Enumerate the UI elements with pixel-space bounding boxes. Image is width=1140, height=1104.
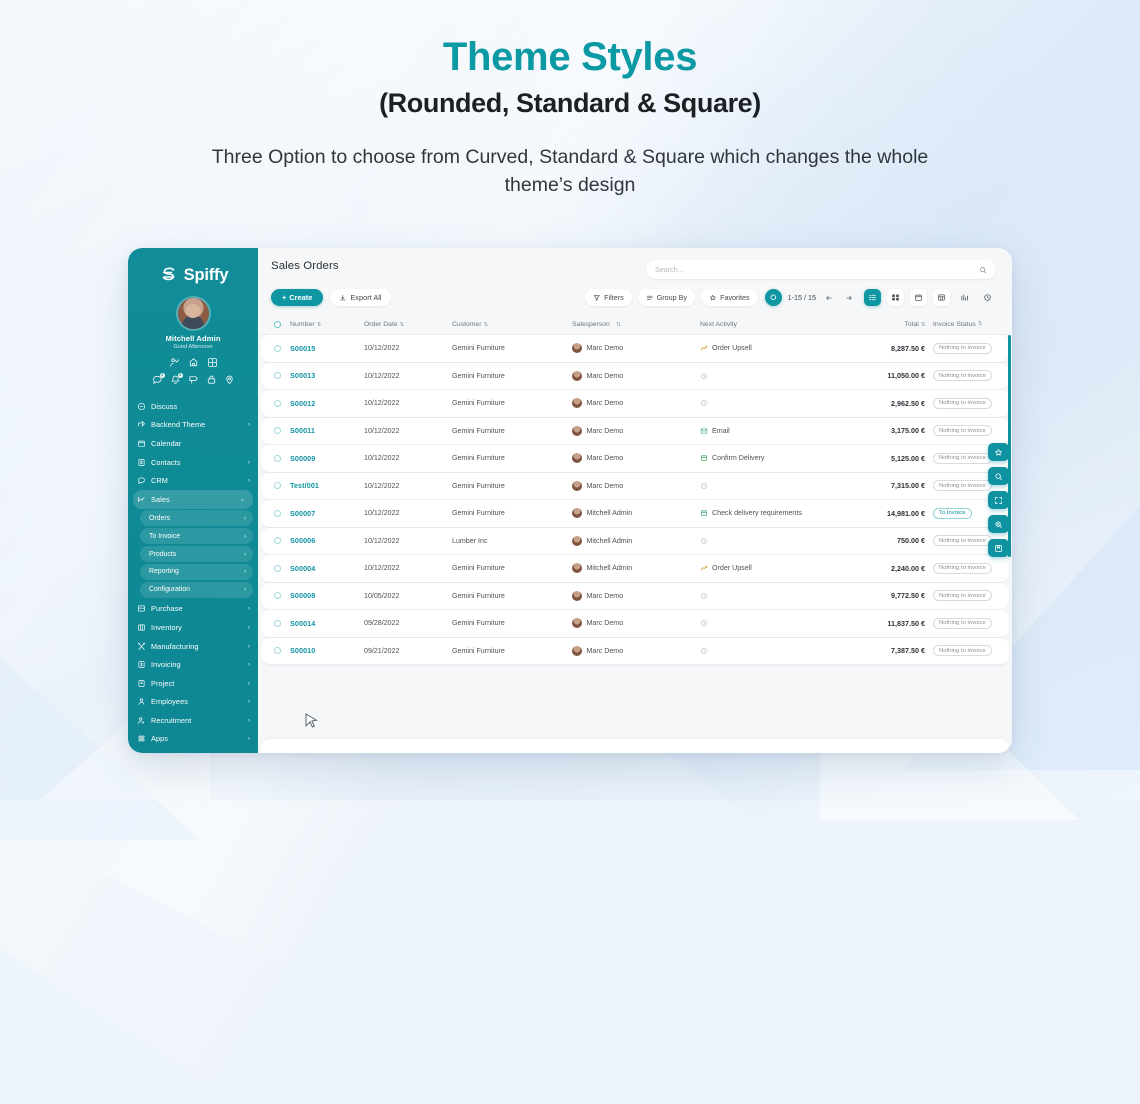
sort-icon: ⇅	[978, 321, 982, 328]
column-header-total[interactable]: Total⇅	[847, 321, 925, 328]
row-checkbox[interactable]	[274, 400, 290, 407]
row-next-activity: Order Upsell	[700, 564, 847, 572]
row-invoice-status: Nothing to invoice	[925, 370, 995, 381]
row-salesperson-name: Marc Demo	[587, 372, 624, 380]
column-label: Customer	[452, 321, 481, 328]
row-number[interactable]: S00010	[290, 646, 364, 655]
group-by-button[interactable]: Group By	[638, 289, 695, 306]
chevron-right-icon: ›	[248, 421, 250, 428]
quick-icons-row-2: 3 4	[128, 374, 258, 385]
row-total: 2,240.00 €	[847, 564, 925, 573]
export-all-label: Export All	[350, 293, 381, 302]
row-salesperson: Marc Demo	[572, 426, 700, 436]
row-salesperson-name: Marc Demo	[587, 454, 624, 462]
contacts-icon	[137, 458, 146, 467]
discuss-icon	[137, 402, 146, 411]
project-icon	[137, 679, 146, 688]
row-number[interactable]: S00007	[290, 509, 364, 518]
row-invoice-status: Nothing to invoice	[925, 563, 995, 574]
row-invoice-status: Nothing to invoice	[925, 453, 995, 464]
quick-icons-row-1	[128, 357, 258, 368]
calendar-check-icon	[700, 454, 708, 462]
status-badge: Nothing to invoice	[933, 480, 992, 491]
sidebar-item-label: Calendar	[151, 439, 250, 448]
pager: 1-15 / 15	[765, 289, 856, 306]
row-salesperson-name: Marc Demo	[587, 399, 624, 407]
avatar	[572, 371, 582, 381]
search-icon[interactable]	[979, 266, 987, 274]
sort-icon: ⇅	[483, 322, 487, 328]
previous-page-button[interactable]	[822, 291, 836, 305]
row-salesperson-name: Marc Demo	[587, 647, 624, 655]
sidebar-item-contacts[interactable]: Contacts ›	[128, 453, 258, 472]
row-invoice-status: Nothing to invoice	[925, 645, 995, 656]
spiffy-s-logo-icon	[158, 264, 180, 286]
row-invoice-status: Nothing to invoice	[925, 480, 995, 491]
notifications-badge: 4	[178, 373, 183, 378]
row-next-activity: Confirm Delivery	[700, 454, 847, 462]
email-icon	[700, 427, 708, 435]
sidebar-item-project[interactable]: Project ›	[128, 674, 258, 693]
row-next-activity	[700, 482, 847, 490]
avatar	[572, 453, 582, 463]
row-customer: Gemini Furniture	[452, 482, 572, 490]
apps-grid-icon[interactable]	[207, 357, 218, 368]
row-order-date: 10/12/2022	[364, 427, 452, 435]
sidebar-item-calendar[interactable]: Calendar	[128, 434, 258, 453]
calendar-view-button[interactable]	[910, 289, 927, 306]
sidebar-item-purchase[interactable]: Purchase ›	[128, 600, 258, 619]
avatar	[572, 398, 582, 408]
row-number[interactable]: S00014	[290, 619, 364, 628]
search-placeholder: Search...	[655, 265, 684, 274]
table-row[interactable]: Test/00110/12/2022Gemini FurnitureMarc D…	[261, 473, 1009, 500]
status-badge: To Invoice	[933, 508, 972, 519]
column-header-invoice-status[interactable]: Invoice Status⇅	[925, 321, 995, 328]
row-salesperson: Marc Demo	[572, 343, 700, 353]
save-layout-icon[interactable]	[988, 539, 1009, 557]
row-checkbox[interactable]	[274, 510, 290, 517]
status-badge: Nothing to invoice	[933, 535, 992, 546]
sidebar-item-label: Backend Theme	[151, 420, 243, 429]
status-badge: Nothing to invoice	[933, 398, 992, 409]
avatar	[572, 508, 582, 518]
plus-icon: +	[282, 293, 286, 302]
clock-icon	[700, 372, 708, 380]
chevron-right-icon: ›	[248, 624, 250, 631]
row-next-activity	[700, 647, 847, 655]
view-title: Sales Orders	[271, 260, 339, 272]
search-icon[interactable]	[988, 467, 1009, 485]
sidebar-item-invoicing[interactable]: Invoicing ›	[128, 655, 258, 674]
row-customer: Gemini Furniture	[452, 592, 572, 600]
row-next-activity-label: Order Upsell	[712, 564, 752, 572]
row-customer: Gemini Furniture	[452, 619, 572, 627]
chevron-right-icon: ›	[248, 605, 250, 612]
row-salesperson-name: Marc Demo	[587, 619, 624, 627]
row-checkbox[interactable]	[274, 345, 290, 352]
messages-icon[interactable]: 3	[152, 374, 163, 385]
sidebar-item-label: Employees	[151, 697, 243, 706]
messages-badge: 3	[160, 373, 165, 378]
row-invoice-status: Nothing to invoice	[925, 618, 995, 629]
sidebar-item-label: Purchase	[151, 604, 243, 613]
table-row[interactable]: S0000810/05/2022Gemini FurnitureMarc Dem…	[261, 583, 1009, 610]
column-header-salesperson[interactable]: Salesperson⇅	[572, 321, 700, 328]
row-total: 7,387.50 €	[847, 646, 925, 655]
sidebar-subitem-label: Products	[149, 551, 244, 558]
row-customer: Gemini Furniture	[452, 427, 572, 435]
row-invoice-status: Nothing to invoice	[925, 343, 995, 354]
chevron-right-icon: ›	[248, 680, 250, 687]
column-header-number[interactable]: Number⇅	[290, 321, 364, 328]
crm-icon	[137, 476, 146, 485]
chevron-right-icon: ›	[248, 698, 250, 705]
select-all-checkbox[interactable]	[274, 321, 290, 328]
clock-icon	[700, 647, 708, 655]
sidebar-item-apps[interactable]: Apps ›	[128, 730, 258, 749]
row-total: 7,315.00 €	[847, 481, 925, 490]
sidebar-item-sales[interactable]: Sales ⌄	[133, 490, 253, 509]
row-order-date: 09/21/2022	[364, 647, 452, 655]
filters-label: Filters	[604, 293, 624, 302]
activity-user-icon[interactable]	[169, 357, 180, 368]
activity-view-button[interactable]	[979, 289, 996, 306]
avatar	[572, 646, 582, 656]
avatar	[572, 343, 582, 353]
group-by-label: Group By	[657, 293, 687, 302]
toolbar: Filters Group By Favorites	[585, 289, 996, 306]
row-salesperson-name: Marc Demo	[587, 482, 624, 490]
row-order-date: 10/12/2022	[364, 564, 452, 572]
status-badge: Nothing to invoice	[933, 370, 992, 381]
sidebar-item-manufacturing[interactable]: Manufacturing ›	[128, 637, 258, 656]
row-invoice-status: Nothing to invoice	[925, 590, 995, 601]
order-upsell-icon	[700, 564, 708, 572]
sidebar-item-label: CRM	[151, 476, 243, 485]
avatar	[572, 563, 582, 573]
row-order-date: 10/12/2022	[364, 509, 452, 517]
sidebar-item-employees[interactable]: Employees ›	[128, 692, 258, 711]
brand[interactable]: Spiffy	[128, 260, 258, 290]
sidebar-item-label: Sales	[151, 495, 235, 504]
apps-icon	[137, 734, 146, 743]
row-order-date: 10/12/2022	[364, 537, 452, 545]
row-next-activity-label: Check delivery requirements	[712, 509, 802, 517]
avatar	[572, 591, 582, 601]
table-header: Number⇅ Order Date⇅ Customer⇅ Salesperso…	[261, 312, 1009, 335]
sidebar-item-backend-theme[interactable]: Backend Theme ›	[128, 416, 258, 435]
row-customer: Gemini Furniture	[452, 454, 572, 462]
chevron-right-icon: ›	[248, 477, 250, 484]
invoicing-icon	[137, 660, 146, 669]
filters-button[interactable]: Filters	[585, 289, 632, 306]
column-label: Invoice Status	[933, 321, 976, 328]
row-total: 2,962.50 €	[847, 399, 925, 408]
sidebar-subitem-products[interactable]: Products ›	[140, 546, 253, 562]
sidebar-item-label: Apps	[151, 734, 243, 743]
sort-icon: ⇅	[616, 322, 620, 328]
row-next-activity-label: Order Upsell	[712, 344, 752, 352]
table-body[interactable]: S0001510/12/2022Gemini FurnitureMarc Dem…	[258, 335, 1012, 739]
row-customer: Gemini Furniture	[452, 399, 572, 407]
page-subtitle: (Rounded, Standard & Square)	[0, 88, 1140, 119]
manufacturing-icon	[137, 642, 146, 651]
sidebar-item-recruitment[interactable]: Recruitment ›	[128, 711, 258, 730]
row-invoice-status: Nothing to invoice	[925, 535, 995, 546]
row-checkbox[interactable]	[274, 537, 290, 544]
sidebar-subitem-to-invoice[interactable]: To Invoice ›	[140, 528, 253, 544]
row-next-activity-label: Email	[712, 427, 730, 435]
page-title: Theme Styles	[0, 34, 1140, 81]
clock-icon	[700, 619, 708, 627]
row-total: 8,287.50 €	[847, 344, 925, 353]
chevron-right-icon: ›	[248, 643, 250, 650]
table-row[interactable]: S0000610/12/2022Lumber IncMitchell Admin…	[261, 528, 1009, 555]
table-row[interactable]: S0001009/21/2022Gemini FurnitureMarc Dem…	[261, 638, 1009, 665]
row-total: 11,050.00 €	[847, 371, 925, 380]
filter-icon	[593, 294, 601, 302]
list-view-button[interactable]	[864, 289, 881, 306]
theme-icon	[137, 420, 146, 429]
floating-action-buttons	[988, 443, 1009, 557]
table-row[interactable]: S0001310/12/2022Gemini FurnitureMarc Dem…	[261, 363, 1009, 390]
sidebar-subitem-label: Reporting	[149, 568, 244, 575]
row-salesperson-name: Marc Demo	[587, 427, 624, 435]
graph-view-button[interactable]	[956, 289, 973, 306]
sales-chart-icon	[137, 495, 146, 504]
row-order-date: 10/12/2022	[364, 344, 452, 352]
sort-icon: ⇅	[400, 322, 404, 328]
sidebar-item-label: Manufacturing	[151, 642, 243, 651]
status-badge: Nothing to invoice	[933, 590, 992, 601]
table-row[interactable]: S0001510/12/2022Gemini FurnitureMarc Dem…	[261, 335, 1009, 362]
chevron-right-icon: ›	[248, 661, 250, 668]
row-customer: Gemini Furniture	[452, 344, 572, 352]
chevron-right-icon: ›	[248, 459, 250, 466]
avatar	[572, 481, 582, 491]
sidebar-item-label: Inventory	[151, 623, 243, 632]
row-salesperson: Mitchell Admin	[572, 563, 700, 573]
table-row[interactable]: S0000710/12/2022Gemini FurnitureMitchell…	[261, 500, 1009, 527]
chevron-right-icon: ›	[244, 586, 246, 593]
row-checkbox[interactable]	[274, 647, 290, 654]
row-salesperson-name: Marc Demo	[587, 344, 624, 352]
clock-icon	[700, 537, 708, 545]
download-icon	[339, 294, 347, 302]
search-input[interactable]: Search...	[646, 260, 996, 279]
row-number[interactable]: S00008	[290, 591, 364, 600]
create-button[interactable]: + Create	[271, 289, 323, 306]
brand-name: Spiffy	[184, 266, 229, 285]
megaphone-icon[interactable]	[188, 374, 199, 385]
table-row[interactable]: S0001110/12/2022Gemini FurnitureMarc Dem…	[261, 418, 1009, 445]
row-salesperson: Marc Demo	[572, 371, 700, 381]
chevron-right-icon: ›	[244, 515, 246, 522]
pivot-view-button[interactable]	[933, 289, 950, 306]
row-number[interactable]: S00015	[290, 344, 364, 353]
export-all-button[interactable]: Export All	[330, 289, 390, 306]
row-total: 5,125.00 €	[847, 454, 925, 463]
favorites-label: Favorites	[720, 293, 750, 302]
row-next-activity: Check delivery requirements	[700, 509, 847, 517]
star-icon[interactable]	[988, 443, 1009, 461]
row-total: 3,175.00 €	[847, 426, 925, 435]
row-total: 11,837.50 €	[847, 619, 925, 628]
purchase-icon	[137, 604, 146, 613]
calendar-check-icon	[700, 509, 708, 517]
column-header-order-date[interactable]: Order Date⇅	[364, 321, 452, 328]
calendar-icon	[137, 439, 146, 448]
status-badge: Nothing to invoice	[933, 425, 992, 436]
next-page-button[interactable]	[842, 291, 856, 305]
row-checkbox[interactable]	[274, 372, 290, 379]
row-order-date: 10/05/2022	[364, 592, 452, 600]
control-panel-top: Sales Orders Search...	[271, 260, 996, 279]
column-label: Order Date	[364, 321, 398, 328]
row-next-activity-label: Confirm Delivery	[712, 454, 764, 462]
sidebar-item-settings[interactable]: Settings ›	[128, 748, 258, 753]
status-badge: Nothing to invoice	[933, 618, 992, 629]
column-header-customer[interactable]: Customer⇅	[452, 321, 572, 328]
row-checkbox[interactable]	[274, 455, 290, 462]
row-salesperson: Marc Demo	[572, 398, 700, 408]
sidebar-subitem-label: To Invoice	[149, 533, 244, 540]
sidebar-item-label: Project	[151, 679, 243, 688]
row-number[interactable]: S00011	[290, 426, 364, 435]
row-next-activity	[700, 399, 847, 407]
sidebar: Spiffy Mitchell Admin Good Afternoon	[128, 248, 258, 753]
row-total: 750.00 €	[847, 536, 925, 545]
main-content: Sales Orders Search... + Create	[258, 248, 1012, 753]
row-next-activity: Order Upsell	[700, 344, 847, 352]
chevron-right-icon: ›	[244, 551, 246, 558]
status-badge: Nothing to invoice	[933, 343, 992, 354]
table-row[interactable]: S0001210/12/2022Gemini FurnitureMarc Dem…	[261, 390, 1009, 417]
avatar[interactable]	[178, 298, 209, 329]
sidebar-item-label: Contacts	[151, 458, 243, 467]
create-button-label: Create	[289, 293, 312, 302]
row-salesperson: Mitchell Admin	[572, 508, 700, 518]
avatar	[572, 536, 582, 546]
control-panel-bottom: + Create Export All	[271, 289, 996, 306]
page-description: Three Option to choose from Curved, Stan…	[200, 143, 940, 200]
sidebar-item-discuss[interactable]: Discuss	[128, 397, 258, 416]
row-next-activity	[700, 592, 847, 600]
row-checkbox[interactable]	[274, 620, 290, 627]
rows-container: S0001510/12/2022Gemini FurnitureMarc Dem…	[261, 335, 1009, 664]
row-customer: Gemini Furniture	[452, 372, 572, 380]
sidebar-subitem-configuration[interactable]: Configuration ›	[140, 582, 253, 598]
row-salesperson: Marc Demo	[572, 591, 700, 601]
row-number[interactable]: S00006	[290, 536, 364, 545]
row-next-activity	[700, 537, 847, 545]
headline-block: Theme Styles (Rounded, Standard & Square…	[0, 34, 1140, 200]
row-number[interactable]: Test/001	[290, 481, 364, 490]
status-badge: Nothing to invoice	[933, 645, 992, 656]
chevron-right-icon: ›	[244, 568, 246, 575]
refresh-circle-button[interactable]	[765, 289, 782, 306]
row-next-activity: Email	[700, 427, 847, 435]
row-checkbox[interactable]	[274, 482, 290, 489]
row-number[interactable]: S00004	[290, 564, 364, 573]
zoom-in-icon[interactable]	[988, 515, 1009, 533]
status-badge: Nothing to invoice	[933, 563, 992, 574]
group-by-icon	[646, 294, 654, 302]
home-box-icon[interactable]	[188, 357, 199, 368]
row-number[interactable]: S00012	[290, 399, 364, 408]
row-number[interactable]: S00009	[290, 454, 364, 463]
fullscreen-icon[interactable]	[988, 491, 1009, 509]
row-total: 14,981.00 €	[847, 509, 925, 518]
pin-location-icon[interactable]	[224, 374, 235, 385]
profile-block[interactable]: Mitchell Admin Good Afternoon	[128, 298, 258, 350]
row-salesperson: Marc Demo	[572, 646, 700, 656]
lock-icon[interactable]	[206, 374, 217, 385]
favorites-button[interactable]: Favorites	[701, 289, 758, 306]
row-invoice-status: Nothing to invoice	[925, 398, 995, 409]
row-salesperson-name: Mitchell Admin	[587, 509, 633, 517]
row-customer: Gemini Furniture	[452, 564, 572, 572]
sidebar-nav: Discuss Backend Theme › Calendar	[128, 397, 258, 753]
table-row-partial[interactable]	[261, 739, 1009, 753]
row-checkbox[interactable]	[274, 565, 290, 572]
kanban-view-button[interactable]	[887, 289, 904, 306]
chevron-right-icon: ›	[248, 735, 250, 742]
row-customer: Lumber Inc	[452, 537, 572, 545]
notifications-bell-icon[interactable]: 4	[170, 374, 181, 385]
inventory-icon	[137, 623, 146, 632]
column-label: Salesperson	[572, 321, 610, 328]
star-icon	[709, 294, 717, 302]
row-salesperson-name: Marc Demo	[587, 592, 624, 600]
mouse-cursor	[305, 713, 318, 729]
clock-icon	[700, 399, 708, 407]
row-order-date: 09/28/2022	[364, 619, 452, 627]
table-row[interactable]: S0001409/28/2022Gemini FurnitureMarc Dem…	[261, 610, 1009, 637]
sidebar-item-inventory[interactable]: Inventory ›	[128, 618, 258, 637]
clock-icon	[700, 592, 708, 600]
row-customer: Gemini Furniture	[452, 647, 572, 655]
sidebar-subitem-reporting[interactable]: Reporting ›	[140, 564, 253, 580]
row-checkbox[interactable]	[274, 427, 290, 434]
row-customer: Gemini Furniture	[452, 509, 572, 517]
column-header-next-activity[interactable]: Next Activity	[700, 321, 847, 328]
table-row[interactable]: S0000410/12/2022Gemini FurnitureMitchell…	[261, 555, 1009, 582]
sidebar-item-crm[interactable]: CRM ›	[128, 471, 258, 490]
row-next-activity	[700, 619, 847, 627]
order-upsell-icon	[700, 344, 708, 352]
sidebar-item-label: Invoicing	[151, 660, 243, 669]
avatar	[572, 618, 582, 628]
row-checkbox[interactable]	[274, 592, 290, 599]
row-order-date: 10/12/2022	[364, 372, 452, 380]
clock-icon	[700, 482, 708, 490]
row-number[interactable]: S00013	[290, 371, 364, 380]
profile-greeting: Good Afternoon	[128, 344, 258, 350]
row-salesperson: Marc Demo	[572, 453, 700, 463]
employees-icon	[137, 697, 146, 706]
sidebar-item-label: Discuss	[151, 402, 250, 411]
sort-icon: ⇅	[317, 322, 321, 328]
table-row[interactable]: S0000910/12/2022Gemini FurnitureMarc Dem…	[261, 445, 1009, 472]
row-next-activity	[700, 372, 847, 380]
sidebar-item-label: Recruitment	[151, 716, 243, 725]
row-salesperson-name: Mitchell Admin	[587, 564, 633, 572]
row-salesperson: Marc Demo	[572, 481, 700, 491]
row-order-date: 10/12/2022	[364, 482, 452, 490]
sidebar-subitem-orders[interactable]: Orders ›	[140, 510, 253, 526]
